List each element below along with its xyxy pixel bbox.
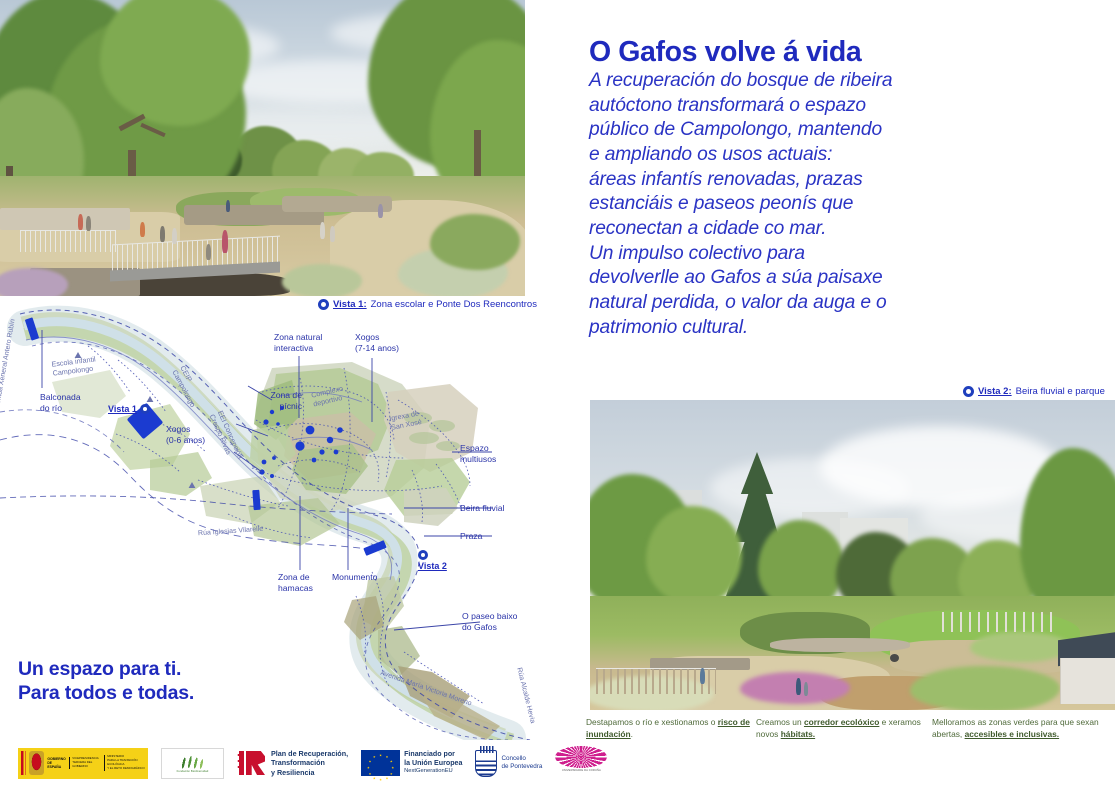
- person: [320, 222, 325, 239]
- note-greenzones: Melloramos as zonas verdes para que sexa…: [932, 716, 1107, 740]
- logo-concello-text: Concello de Pontevedra: [501, 755, 542, 771]
- page-title: O Gafos volve á vida: [589, 38, 989, 68]
- person: [206, 244, 211, 260]
- caption-vista2-label: Vista 2:: [978, 386, 1012, 397]
- body-copy: A recuperación do bosque de ribeira autó…: [589, 69, 989, 340]
- cloud: [710, 458, 910, 518]
- logo-eu-main: Financiado por la Unión Europea: [404, 750, 462, 767]
- logo-gobierno-de-espana: GOBIERNO DE ESPAÑA VICEPRESIDENCIA TERCE…: [18, 748, 148, 779]
- leaves-icon: [174, 754, 211, 769]
- person: [804, 682, 808, 696]
- pontevedra-shield-icon: [475, 750, 497, 777]
- map-callout-zona-hamacas: Zona de hamacas: [278, 572, 313, 593]
- person: [78, 214, 83, 230]
- caption-vista2-text: Beira fluvial e parque: [1016, 386, 1105, 397]
- slogan: Un espazo para ti. Para todos e todas.: [18, 658, 194, 706]
- person: [222, 230, 228, 253]
- logo-vicepresidencia-text: VICEPRESIDENCIA TERCERA DEL GOBIERNO: [69, 757, 101, 768]
- logo-biodiversidad-text: Fundación Biodiversidad: [177, 770, 209, 773]
- shrub: [430, 214, 520, 270]
- universidade-mark-icon: [555, 746, 607, 768]
- person: [86, 216, 91, 231]
- map-marker-vista1-label: Vista 1: [108, 404, 137, 414]
- map-callout-monumento: Monumento: [332, 572, 377, 583]
- stone-wall: [0, 208, 130, 230]
- person: [700, 668, 705, 684]
- map-marker-vista1[interactable]: Vista 1: [108, 404, 150, 414]
- logo-plan-recuperacion: Plan de Recuperación, Transformación y R…: [237, 746, 348, 780]
- note-2-pre: Creamos un: [756, 717, 804, 727]
- logo-plan-text: Plan de Recuperación, Transformación y R…: [271, 749, 348, 777]
- map-callout-praza: Praza: [460, 531, 482, 542]
- logo-concello-pontevedra: Concello de Pontevedra: [475, 746, 542, 780]
- stone-edge: [770, 638, 910, 652]
- map-callout-beira-fluvial: Beira fluvial: [460, 503, 504, 514]
- person: [796, 678, 801, 695]
- person: [160, 226, 165, 242]
- logo-eu-text: Financiado por la Unión Europea NextGene…: [404, 741, 462, 784]
- map-callout-zona-natural: Zona natural interactiva: [274, 332, 322, 353]
- poster-root: Vista 1: Zona escolar e Ponte Dos Reenco…: [0, 0, 1115, 791]
- note-2-bold: corredor ecolóxico: [804, 717, 879, 727]
- person: [378, 204, 383, 218]
- spain-crest-icon: [29, 751, 44, 775]
- logo-universidade-text: UNIVERSIDADE DA CORUÑA: [562, 769, 601, 772]
- map-callout-paseo-baixo: O paseo baixo do Gafos: [462, 611, 517, 632]
- note-1-post: .: [631, 729, 633, 739]
- plan-rshape-icon: [246, 751, 265, 775]
- logo-universidade: UNIVERSIDADE DA CORUÑA: [555, 746, 607, 780]
- map-marker-vista2-label: Vista 2: [418, 561, 447, 571]
- note-2-bold2: hábitats.: [781, 729, 815, 739]
- logo-gobierno-text: GOBIERNO DE ESPAÑA: [47, 757, 65, 770]
- flower-bed: [740, 672, 850, 704]
- map-callout-xogos-7-14: Xogos (7-14 anos): [355, 332, 399, 353]
- render-image-vista1: [0, 0, 525, 296]
- map-marker-vista2[interactable]: Vista 2: [418, 550, 447, 571]
- plan-r-icon: [237, 749, 267, 777]
- note-3-bold: accesibles e inclusivas.: [965, 729, 1060, 739]
- eye-icon: [140, 404, 150, 414]
- fence: [596, 668, 716, 694]
- stone-wall: [282, 196, 392, 212]
- pavilion-wall: [1060, 658, 1115, 704]
- caption-vista2: Vista 2: Beira fluvial e parque: [963, 386, 1105, 397]
- plan-bar-icon: [239, 751, 244, 775]
- render-image-vista2: [590, 400, 1115, 710]
- eye-icon: [963, 386, 974, 397]
- note-1-pre: Destapamos o río e xestionamos o: [586, 717, 718, 727]
- person-cyclist: [226, 200, 230, 212]
- fence: [942, 612, 1052, 632]
- note-river: Destapamos o río e xestionamos o risco d…: [586, 716, 761, 740]
- logo-fundacion-biodiversidad: Fundación Biodiversidad: [161, 748, 224, 779]
- eye-icon: [418, 550, 428, 560]
- logo-ministerio-text: MINISTERIO PARA LA TRANSICIÓN ECOLÓGICA …: [104, 755, 145, 770]
- logo-eu-sub: NextGenerationEU: [404, 768, 462, 775]
- flower-bed: [970, 632, 1070, 662]
- map-callout-zona-picnic: Zona de pícnic: [242, 390, 302, 411]
- shrub: [282, 264, 362, 296]
- text-block: O Gafos volve á vida A recuperación do b…: [589, 38, 989, 340]
- person: [172, 228, 177, 244]
- spain-flag-icon: [21, 751, 26, 775]
- bridge-marker: [252, 490, 260, 510]
- map-callout-balconada: Balconada do río: [40, 392, 81, 413]
- tree: [646, 506, 742, 606]
- railing: [20, 230, 116, 252]
- note-corridor: Creamos un corredor ecolóxico e xeramos …: [756, 716, 931, 740]
- flower-bed: [910, 666, 1060, 710]
- eu-flag-icon: [361, 750, 400, 776]
- logo-union-europea: Financiado por la Unión Europea NextGene…: [361, 746, 462, 780]
- person-resting: [890, 654, 899, 662]
- map-callout-espazo-multiusos: Espazo multiusos: [460, 443, 496, 464]
- logo-bar: GOBIERNO DE ESPAÑA VICEPRESIDENCIA TERCE…: [18, 744, 607, 782]
- person: [140, 222, 145, 237]
- person: [330, 226, 335, 242]
